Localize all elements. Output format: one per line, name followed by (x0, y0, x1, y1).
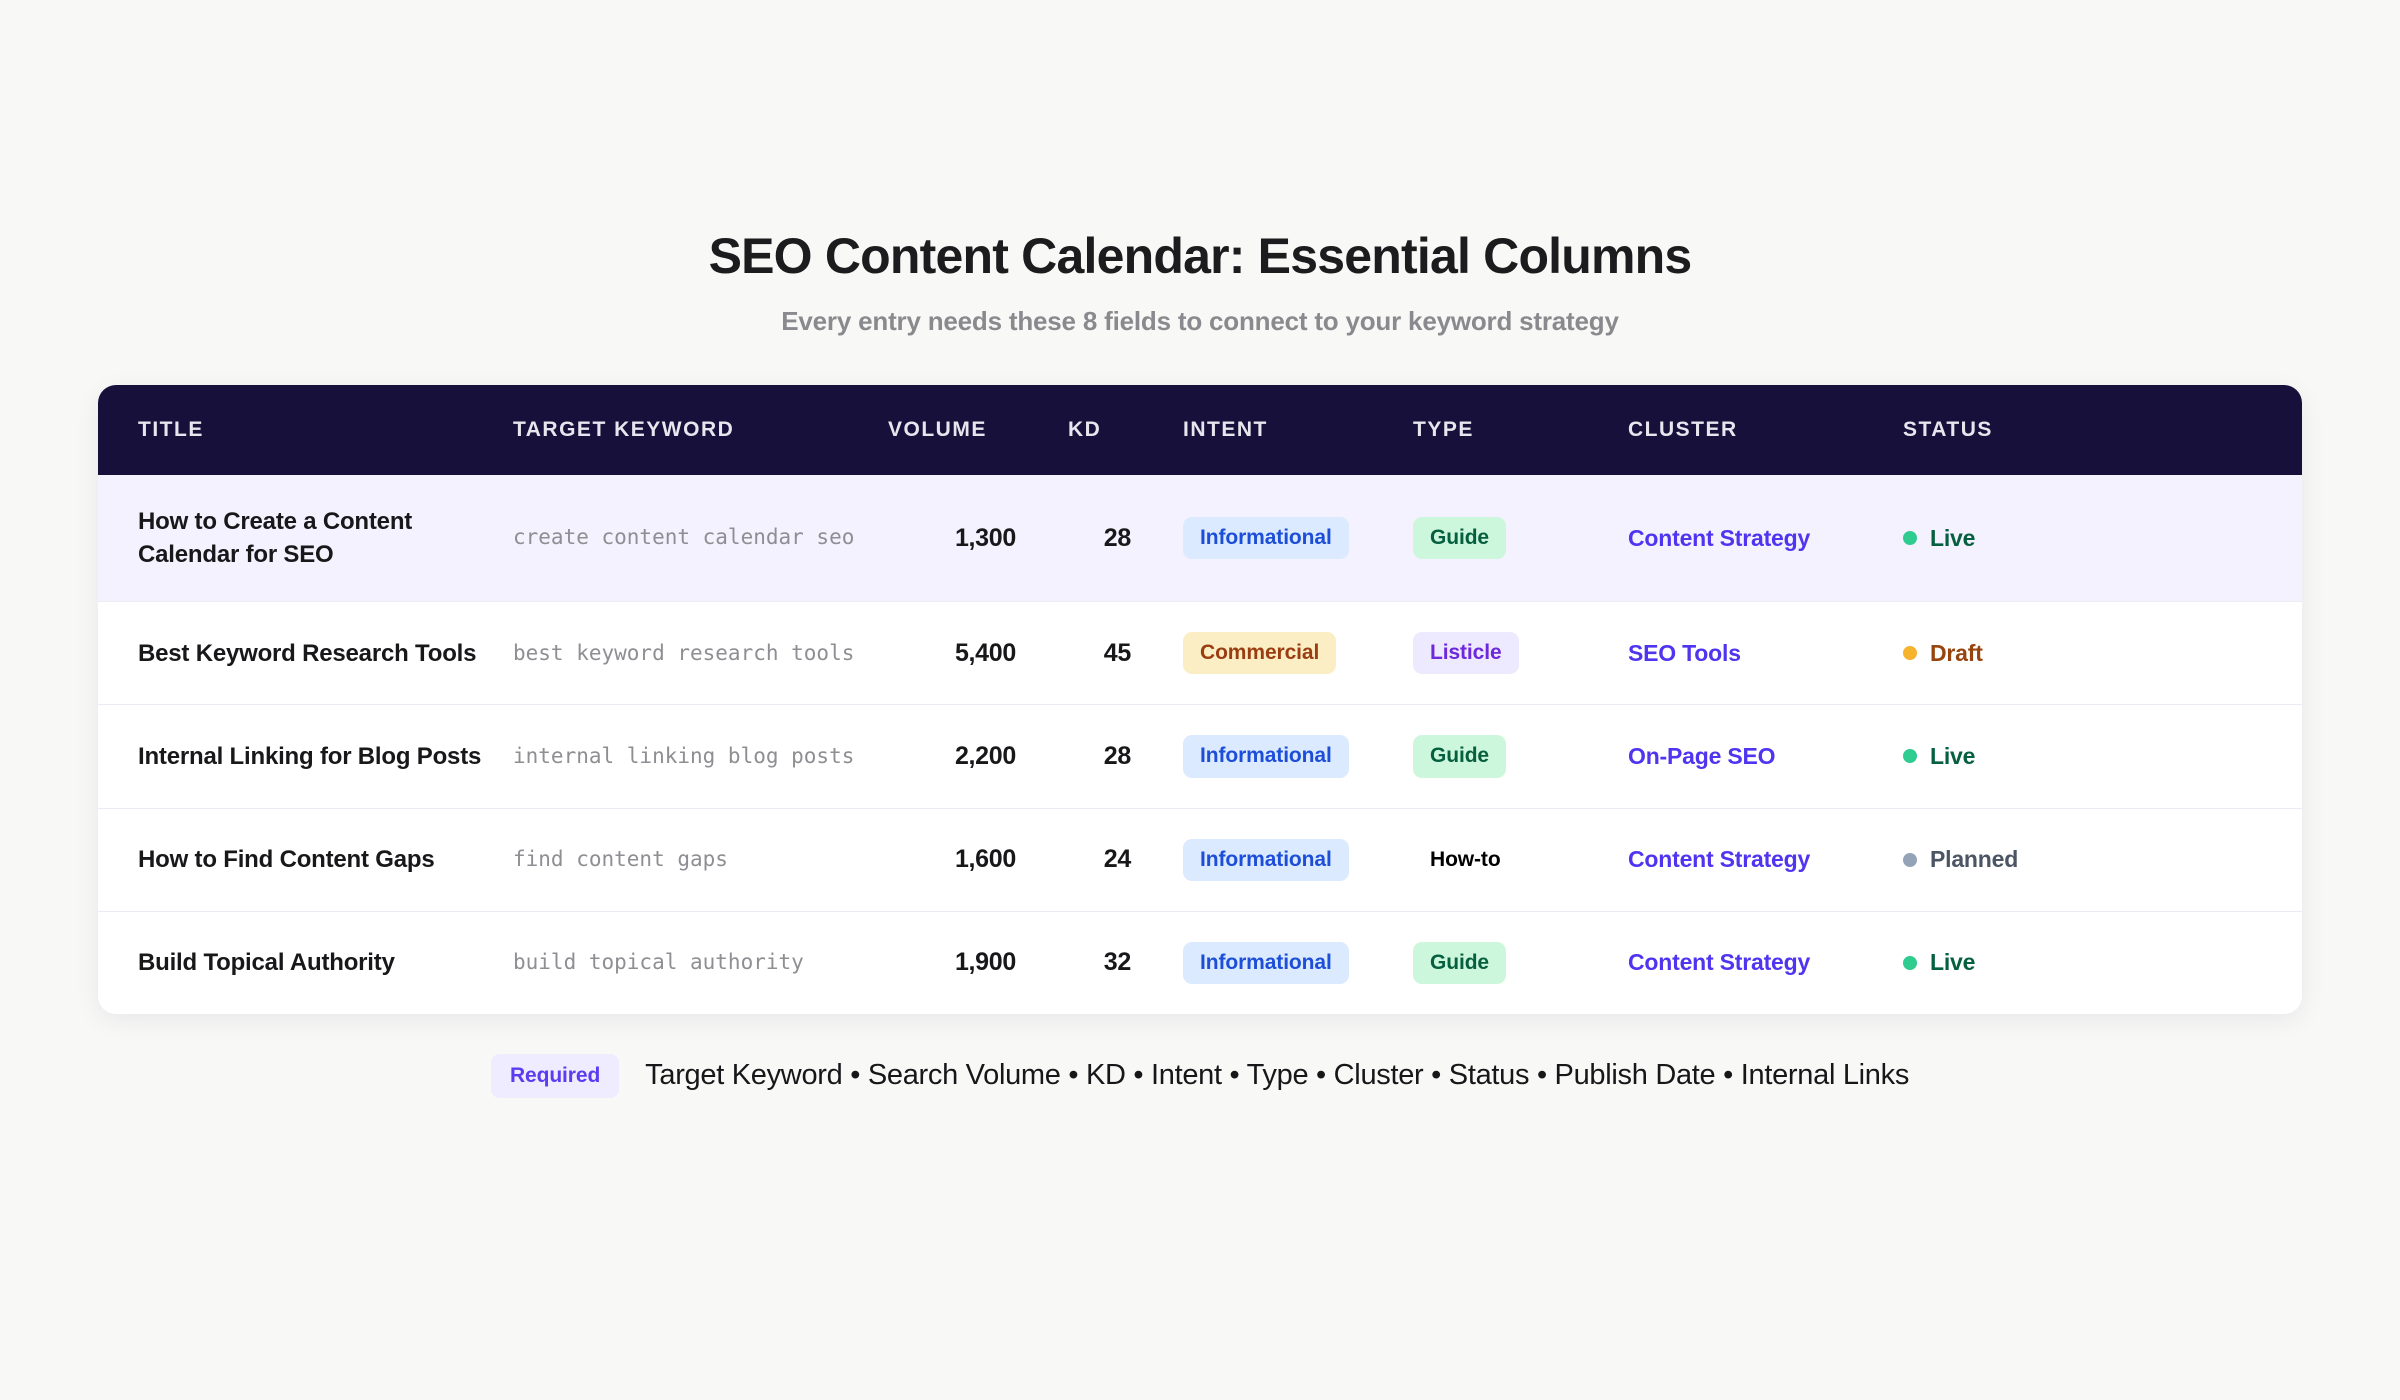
page-subtitle: Every entry needs these 8 fields to conn… (0, 306, 2400, 337)
cell-status: Live (1903, 475, 2302, 602)
cell-volume: 2,200 (888, 705, 1068, 808)
column-header-intent[interactable]: INTENT (1183, 385, 1413, 475)
type-badge[interactable]: Guide (1413, 517, 1506, 559)
seo-content-calendar-page: SEO Content Calendar: Essential Columns … (0, 0, 2400, 1400)
column-header-kd[interactable]: KD (1068, 385, 1183, 475)
cell-title[interactable]: Build Topical Authority (98, 911, 513, 1014)
cell-type: Guide (1413, 475, 1628, 602)
cell-type: Listicle (1413, 602, 1628, 705)
status-badge: Live (1903, 525, 2302, 552)
cell-type: Guide (1413, 911, 1628, 1014)
cell-volume: 1,900 (888, 911, 1068, 1014)
table-row[interactable]: How to Create a Content Calendar for SEO… (98, 475, 2302, 602)
cell-kd: 28 (1068, 475, 1183, 602)
status-dot-icon (1903, 853, 1917, 867)
type-badge[interactable]: How-to (1413, 839, 1518, 881)
cell-title[interactable]: Internal Linking for Blog Posts (98, 705, 513, 808)
cell-target-keyword: best keyword research tools (513, 602, 888, 705)
intent-badge[interactable]: Informational (1183, 839, 1349, 881)
status-badge: Planned (1903, 846, 2302, 873)
cell-volume: 5,400 (888, 602, 1068, 705)
status-dot-icon (1903, 646, 1917, 660)
type-badge[interactable]: Listicle (1413, 632, 1519, 674)
cell-type: Guide (1413, 705, 1628, 808)
intent-badge[interactable]: Commercial (1183, 632, 1336, 674)
status-badge: Live (1903, 949, 2302, 976)
table-header: TITLE TARGET KEYWORD VOLUME KD INTENT TY… (98, 385, 2302, 475)
column-header-cluster[interactable]: CLUSTER (1628, 385, 1903, 475)
cell-status: Live (1903, 705, 2302, 808)
cell-cluster: Content Strategy (1628, 808, 1903, 911)
type-badge[interactable]: Guide (1413, 735, 1506, 777)
intent-badge[interactable]: Informational (1183, 735, 1349, 777)
column-header-type[interactable]: TYPE (1413, 385, 1628, 475)
cell-target-keyword: internal linking blog posts (513, 705, 888, 808)
status-dot-icon (1903, 531, 1917, 545)
cell-cluster: Content Strategy (1628, 475, 1903, 602)
required-badge: Required (491, 1054, 619, 1098)
cell-kd: 24 (1068, 808, 1183, 911)
cell-target-keyword: find content gaps (513, 808, 888, 911)
cell-title[interactable]: How to Find Content Gaps (98, 808, 513, 911)
column-header-title[interactable]: TITLE (98, 385, 513, 475)
column-header-volume[interactable]: VOLUME (888, 385, 1068, 475)
content-calendar-table-card: TITLE TARGET KEYWORD VOLUME KD INTENT TY… (98, 385, 2302, 1014)
cell-cluster: SEO Tools (1628, 602, 1903, 705)
page-header: SEO Content Calendar: Essential Columns … (0, 228, 2400, 337)
status-label: Live (1930, 949, 1975, 976)
status-label: Draft (1930, 640, 1983, 667)
cell-kd: 32 (1068, 911, 1183, 1014)
cell-cluster: On-Page SEO (1628, 705, 1903, 808)
cell-kd: 28 (1068, 705, 1183, 808)
cell-target-keyword: build topical authority (513, 911, 888, 1014)
cell-status: Planned (1903, 808, 2302, 911)
status-label: Live (1930, 525, 1975, 552)
status-dot-icon (1903, 749, 1917, 763)
cell-volume: 1,300 (888, 475, 1068, 602)
intent-badge[interactable]: Informational (1183, 942, 1349, 984)
status-badge: Live (1903, 743, 2302, 770)
cell-intent: Informational (1183, 705, 1413, 808)
required-fields-legend: Required Target Keyword • Search Volume … (491, 1054, 1909, 1098)
status-label: Planned (1930, 846, 2018, 873)
cluster-link[interactable]: Content Strategy (1628, 525, 1810, 551)
column-header-status[interactable]: STATUS (1903, 385, 2302, 475)
status-label: Live (1930, 743, 1975, 770)
cluster-link[interactable]: Content Strategy (1628, 949, 1810, 975)
status-badge: Draft (1903, 640, 2302, 667)
table-row[interactable]: Build Topical Authoritybuild topical aut… (98, 911, 2302, 1014)
cell-intent: Informational (1183, 911, 1413, 1014)
cell-status: Live (1903, 911, 2302, 1014)
cell-intent: Commercial (1183, 602, 1413, 705)
page-title: SEO Content Calendar: Essential Columns (0, 228, 2400, 284)
cluster-link[interactable]: SEO Tools (1628, 640, 1741, 666)
column-header-target-keyword[interactable]: TARGET KEYWORD (513, 385, 888, 475)
table-row[interactable]: Internal Linking for Blog Postsinternal … (98, 705, 2302, 808)
cell-type: How-to (1413, 808, 1628, 911)
intent-badge[interactable]: Informational (1183, 517, 1349, 559)
table-header-row: TITLE TARGET KEYWORD VOLUME KD INTENT TY… (98, 385, 2302, 475)
status-dot-icon (1903, 956, 1917, 970)
cell-status: Draft (1903, 602, 2302, 705)
table-row[interactable]: Best Keyword Research Toolsbest keyword … (98, 602, 2302, 705)
cluster-link[interactable]: Content Strategy (1628, 846, 1810, 872)
cell-title[interactable]: How to Create a Content Calendar for SEO (98, 475, 513, 602)
table-body: How to Create a Content Calendar for SEO… (98, 475, 2302, 1014)
cell-title[interactable]: Best Keyword Research Tools (98, 602, 513, 705)
content-calendar-table: TITLE TARGET KEYWORD VOLUME KD INTENT TY… (98, 385, 2302, 1014)
cluster-link[interactable]: On-Page SEO (1628, 743, 1775, 769)
cell-target-keyword: create content calendar seo (513, 475, 888, 602)
cell-kd: 45 (1068, 602, 1183, 705)
table-row[interactable]: How to Find Content Gapsfind content gap… (98, 808, 2302, 911)
cell-intent: Informational (1183, 808, 1413, 911)
cell-volume: 1,600 (888, 808, 1068, 911)
cell-cluster: Content Strategy (1628, 911, 1903, 1014)
required-fields-list: Target Keyword • Search Volume • KD • In… (645, 1059, 1909, 1092)
type-badge[interactable]: Guide (1413, 942, 1506, 984)
cell-intent: Informational (1183, 475, 1413, 602)
